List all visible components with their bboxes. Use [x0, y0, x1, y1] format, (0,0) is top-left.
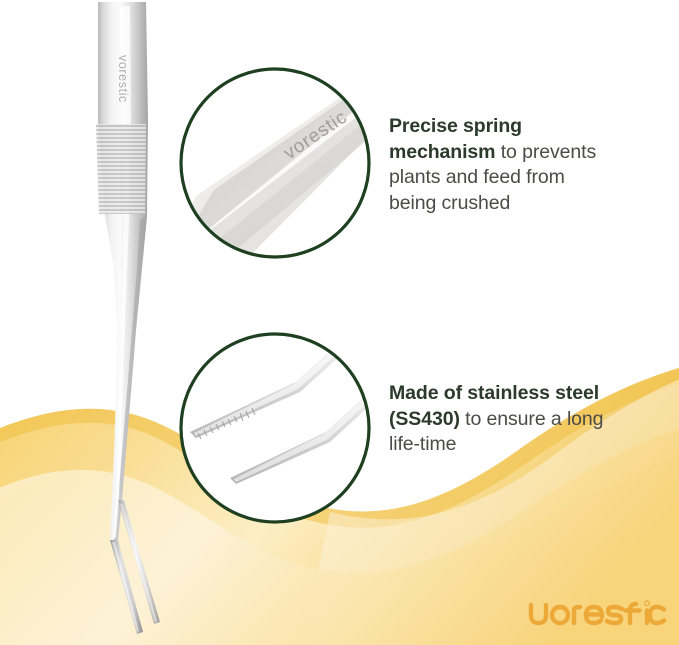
feature-1-line-1: Precise spring [389, 114, 596, 140]
callout-angled-tips-closeup [0, 0, 679, 645]
feature-2-line-1: Made of stainless steel [389, 381, 603, 407]
feature-1-bold-2: mechanism [389, 141, 495, 163]
feature-1-line-4: being crushed [389, 191, 596, 217]
feature-1-rest-4: being crushed [389, 192, 510, 214]
feature-1-rest-2: to prevents [495, 141, 596, 163]
feature-1-bold-1: Precise spring [389, 115, 522, 137]
feature-2-line-2: (SS430) to ensure a long [389, 407, 603, 433]
feature-2-rest-2: to ensure a long [460, 408, 604, 430]
feature-1-rest-3: plants and feed from [389, 166, 565, 188]
brand-logo: vorestic [527, 596, 667, 630]
feature-2-bold-1: Made of stainless steel [389, 382, 599, 404]
feature-1-line-3: plants and feed from [389, 165, 596, 191]
feature-2-line-3: life-time [389, 432, 603, 458]
product-feature-image: vorestic [0, 0, 679, 645]
feature-1-line-2: mechanism to prevents [389, 140, 596, 166]
feature-stainless-steel-ss430: Made of stainless steel (SS430) to ensur… [389, 381, 603, 458]
feature-precise-spring-mechanism: Precise spring mechanism to prevents pla… [389, 114, 596, 216]
feature-2-bold-2: (SS430) [389, 408, 460, 430]
feature-2-rest-3: life-time [389, 433, 456, 455]
